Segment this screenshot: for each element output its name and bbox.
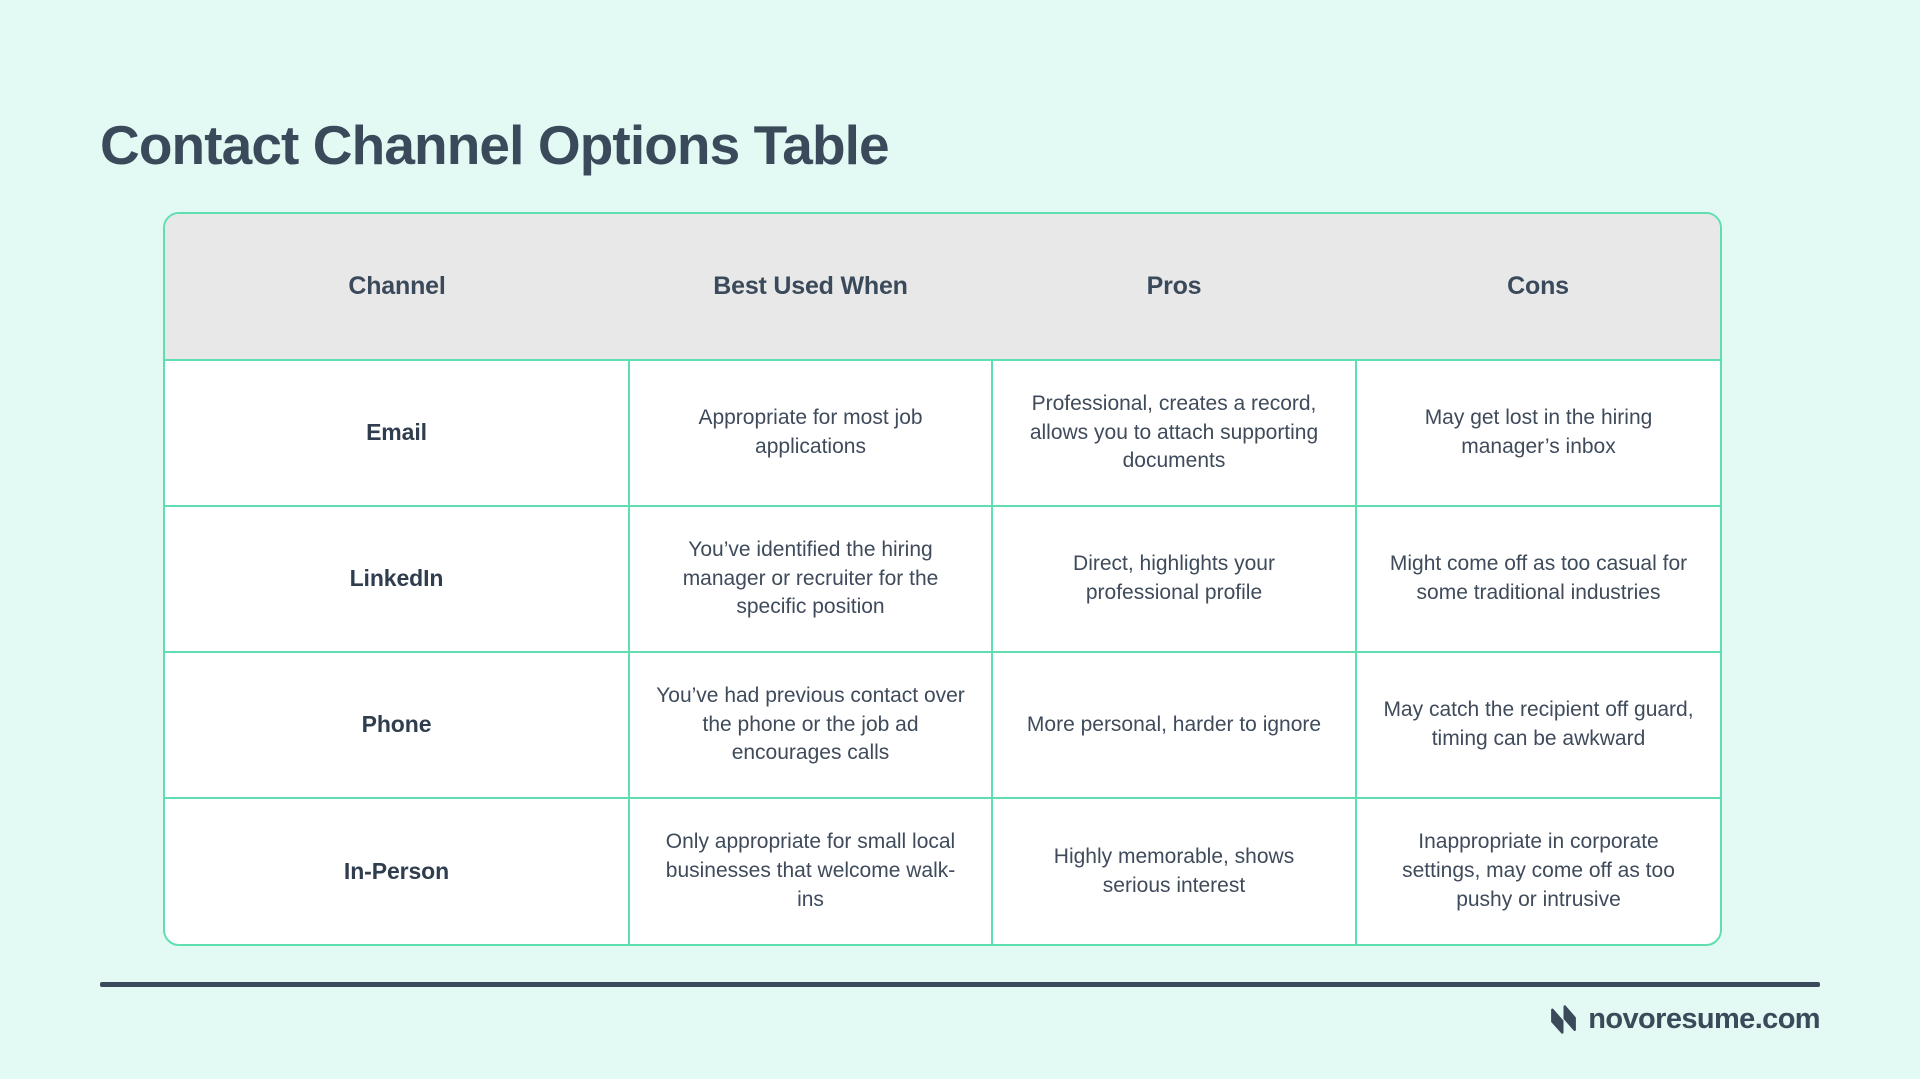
cell-best-used-when: You’ve had previous contact over the pho…: [629, 652, 992, 798]
column-header-cons: Cons: [1356, 214, 1720, 360]
cell-cons: May get lost in the hiring manager’s inb…: [1356, 360, 1720, 506]
cell-channel: Email: [165, 360, 629, 506]
cell-channel: LinkedIn: [165, 506, 629, 652]
table-row: Phone You’ve had previous contact over t…: [165, 652, 1720, 798]
footer-brand: novoresume.com: [1548, 1004, 1820, 1035]
cell-best-used-when: Only appropriate for small local busines…: [629, 798, 992, 944]
cell-pros: More personal, harder to ignore: [992, 652, 1356, 798]
table-row: In-Person Only appropriate for small loc…: [165, 798, 1720, 944]
table-head: Channel Best Used When Pros Cons: [165, 214, 1720, 360]
cell-pros: Direct, highlights your professional pro…: [992, 506, 1356, 652]
page-root: Contact Channel Options Table Channel Be…: [0, 0, 1920, 1079]
cell-pros: Highly memorable, shows serious interest: [992, 798, 1356, 944]
cell-best-used-when: Appropriate for most job applications: [629, 360, 992, 506]
cell-channel: In-Person: [165, 798, 629, 944]
cell-cons: May catch the recipient off guard, timin…: [1356, 652, 1720, 798]
brand-name: novoresume.com: [1588, 1005, 1820, 1034]
table-header-row: Channel Best Used When Pros Cons: [165, 214, 1720, 360]
cell-best-used-when: You’ve identified the hiring manager or …: [629, 506, 992, 652]
table-row: Email Appropriate for most job applicati…: [165, 360, 1720, 506]
cell-pros: Professional, creates a record, allows y…: [992, 360, 1356, 506]
page-title: Contact Channel Options Table: [100, 115, 889, 176]
table-body: Email Appropriate for most job applicati…: [165, 360, 1720, 944]
column-header-pros: Pros: [992, 214, 1356, 360]
column-header-channel: Channel: [165, 214, 629, 360]
footer-divider: [100, 982, 1820, 987]
novoresume-n-logo-icon: [1548, 1004, 1579, 1035]
cell-cons: Inappropriate in corporate settings, may…: [1356, 798, 1720, 944]
contact-channel-table-container: Channel Best Used When Pros Cons Email A…: [163, 212, 1722, 946]
contact-channel-table: Channel Best Used When Pros Cons Email A…: [165, 214, 1720, 944]
cell-channel: Phone: [165, 652, 629, 798]
cell-cons: Might come off as too casual for some tr…: [1356, 506, 1720, 652]
column-header-best-used-when: Best Used When: [629, 214, 992, 360]
table-row: LinkedIn You’ve identified the hiring ma…: [165, 506, 1720, 652]
